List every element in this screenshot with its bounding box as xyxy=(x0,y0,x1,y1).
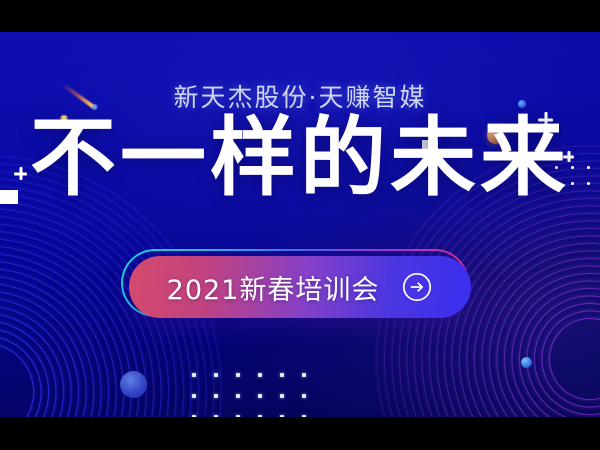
letterbox-bar-top xyxy=(0,0,600,32)
banner-stage: 新天杰股份·天赚智媒 不一样的未来 2021新春培训会 xyxy=(0,0,600,450)
cta-button[interactable]: 2021新春培训会 xyxy=(129,256,471,318)
poster-headline: 不一样的未来 xyxy=(0,112,600,205)
cta-container: 2021新春培训会 xyxy=(129,256,471,318)
letterbox-bar-bottom xyxy=(0,417,600,450)
arrow-right-circle-icon[interactable] xyxy=(401,271,433,303)
cta-button-label: 2021新春培训会 xyxy=(167,268,380,307)
poster-artboard: 新天杰股份·天赚智媒 不一样的未来 2021新春培训会 xyxy=(0,32,600,417)
poster-content: 新天杰股份·天赚智媒 不一样的未来 2021新春培训会 xyxy=(0,32,600,417)
